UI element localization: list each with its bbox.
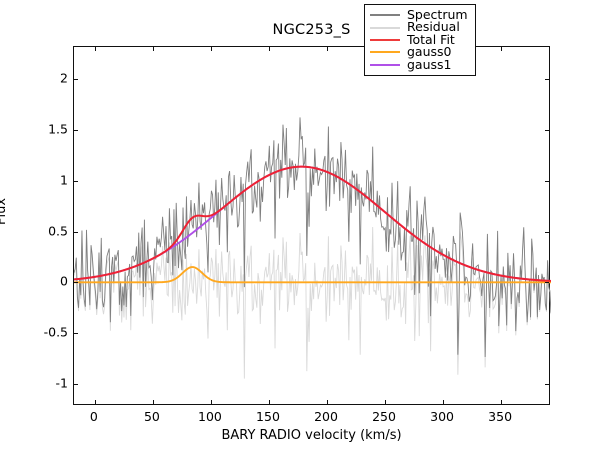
y-tick-label: 1 [68, 172, 76, 187]
x-tick [211, 400, 212, 404]
y-tick-label: 0.5 [68, 223, 88, 238]
x-tick [153, 47, 154, 51]
chart-legend: SpectrumResidualTotal Fitgauss0gauss1 [364, 4, 476, 76]
plot-axes [73, 46, 550, 405]
x-tick [95, 400, 96, 404]
y-tick [545, 282, 549, 283]
x-tick [269, 47, 270, 51]
x-tick [501, 47, 502, 51]
x-tick [269, 400, 270, 404]
x-tick [501, 400, 502, 404]
plot-series-layer [74, 47, 551, 406]
y-tick-label-text: 0 [60, 274, 68, 289]
y-axis-label: Flux [0, 198, 9, 225]
spectrum-trace [74, 117, 551, 357]
legend-swatch [370, 51, 400, 53]
x-tick [153, 400, 154, 404]
legend-swatch [370, 64, 400, 66]
x-tick-label: 150 [256, 409, 280, 424]
x-tick-label: 100 [198, 409, 222, 424]
x-tick-label: 300 [430, 409, 454, 424]
y-tick [545, 79, 549, 80]
y-tick-label-text: 1 [60, 172, 68, 187]
x-tick [327, 400, 328, 404]
x-axis-label: BARY RADIO velocity (km/s) [73, 428, 550, 443]
y-tick [545, 384, 549, 385]
y-tick-label: 0 [68, 274, 76, 289]
y-tick-label: 1.5 [68, 122, 88, 137]
y-tick-label-text: 2 [60, 71, 68, 86]
figure-canvas: NGC253_S 050100150200250300350-1-0.500.5… [0, 0, 609, 459]
y-tick-label-text: -0.5 [44, 324, 68, 339]
x-tick-label: 250 [372, 409, 396, 424]
x-tick [443, 400, 444, 404]
y-tick-label: -0.5 [68, 324, 92, 339]
y-tick [545, 232, 549, 233]
y-tick-label: -1 [68, 375, 80, 390]
residual-trace [74, 227, 551, 379]
legend-swatch [370, 39, 400, 41]
x-tick-label: 350 [488, 409, 512, 424]
legend-label: gauss1 [407, 59, 452, 71]
x-tick [95, 47, 96, 51]
y-tick [545, 181, 549, 182]
y-tick [545, 130, 549, 131]
x-tick-label: 50 [144, 409, 160, 424]
y-tick [545, 333, 549, 334]
y-tick-label: 2 [68, 71, 76, 86]
x-tick [211, 47, 212, 51]
x-tick [385, 400, 386, 404]
chart-title: NGC253_S [73, 22, 550, 38]
y-tick-label-text: -1 [56, 375, 68, 390]
x-tick-label: 0 [90, 409, 98, 424]
x-tick [327, 47, 328, 51]
legend-item-gauss1: gauss1 [370, 59, 468, 71]
y-tick-label-text: 1.5 [48, 122, 68, 137]
y-tick-label-text: 0.5 [48, 223, 68, 238]
legend-swatch [370, 14, 400, 16]
legend-swatch [370, 27, 400, 29]
x-tick-label: 200 [314, 409, 338, 424]
